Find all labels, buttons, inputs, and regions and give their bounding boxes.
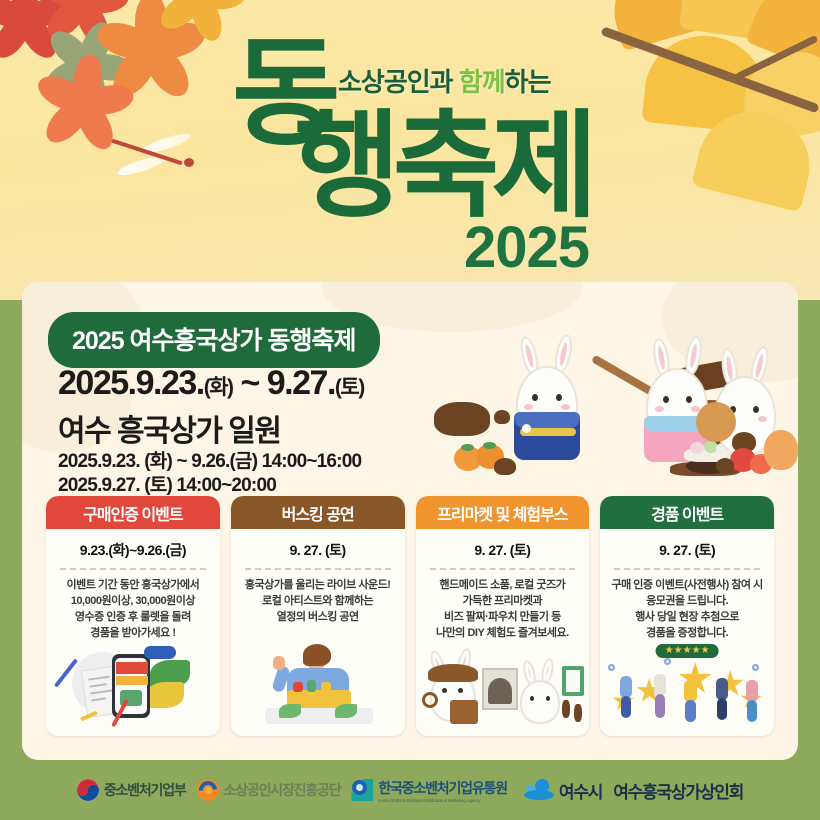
card-date: 9. 27. (토) [231,540,405,560]
leaf-decor-icon [279,704,301,718]
chestnut-icon [716,458,734,473]
card-header: 프리마켓 및 체험부스 [416,496,590,529]
performer-hair-icon [303,644,331,666]
card-divider [430,568,576,570]
event-card[interactable]: 버스킹 공연 9. 27. (토) 흥국상가를 울리는 라이브 사운드! 로컬 … [231,496,405,736]
date-start: 2025.9.23. [58,364,204,402]
chat-bubble-icon [144,646,176,659]
chestnut-pile-icon [434,402,490,436]
dancer-icon [655,694,665,718]
rabbit-illustration [432,362,798,497]
photo-image [488,678,512,704]
yeosu-wave-icon [524,779,554,801]
tagline-highlight: 함께 [459,67,505,97]
logo-kosme: 한국중소벤처기업유통원 Korea SMEs & Startups Distri… [351,778,506,803]
card-description: 이벤트 기간 동안 흥국상가에서 10,000원이상, 30,000원이상 영수… [54,578,212,642]
dancer-icon [621,696,631,718]
chestnut-icon [494,410,510,424]
persimmon-leaf-icon [483,442,496,449]
star-rating-text: ★★★★★ [665,646,710,656]
logo-label: 한국중소벤처기업유통원 [378,778,506,798]
magnifier-icon [422,692,438,708]
card-date: 9. 27. (토) [416,540,590,560]
card-description: 핸드메이드 소품, 로컬 굿즈가 가득한 프리마켓과 비즈 팔찌·파우치 만들기… [424,578,582,642]
busking-performer-illustration [231,642,405,730]
card-divider [614,568,760,570]
dancer-icon [620,676,632,698]
logo-motie: 중소벤처기업부 [77,779,186,801]
card-date: 9. 27. (토) [600,540,774,560]
dragonfly-icon [100,120,210,190]
card-divider [245,568,391,570]
card-divider [60,568,206,570]
dancer-icon [716,678,728,700]
leaf-decor-icon [146,682,184,708]
handmade-goods-illustration [416,654,590,730]
festival-poster: 소상공인과 함께하는 동 행축제 2025 2025 여수흥국상가 동행축제 2… [0,0,820,820]
event-time-line-2: 2025.9.27. (토) 14:00~20:00 [58,470,276,497]
date-end: 9.27. [267,364,335,402]
logo-sublabel: Korea SMEs & Startups Distribution & Mar… [378,798,506,803]
logo-label: 소상공인시장진흥공단 [224,780,341,800]
content-panel: 2025 여수흥국상가 동행축제 2025.9.23.(화) ~ 9.27.(토… [22,282,798,760]
chestnut-icon [562,700,570,718]
dancer-icon [717,698,727,720]
event-card[interactable]: 프리마켓 및 체험부스 9. 27. (토) 핸드메이드 소품, 로컬 굿즈가 … [416,496,590,736]
logo-merchants: 여수흥국상가상인회 [613,778,743,803]
footer-logos: 중소벤처기업부 소상공인시장진흥공단 한국중소벤처기업유통원 Korea SME… [0,760,820,820]
dancer-icon [747,700,757,722]
card-date: 9.23.(화)~9.26.(금) [46,540,220,560]
logo-label: 중소벤처기업부 [104,780,186,800]
title-line-2: 행축제 [294,114,590,218]
bag-icon [450,700,478,724]
tagline: 소상공인과 함께하는 [338,62,551,99]
pear-icon [764,430,798,470]
date-tilde: ~ [233,364,267,402]
phone-receipt-illustration [46,642,220,730]
card-header: 버스킹 공연 [231,496,405,529]
event-cards: 구매인증 이벤트 9.23.(화)~9.26.(금) 이벤트 기간 동안 흥국상… [46,496,774,736]
detective-hat-icon [428,664,478,682]
star-rating-bubble: ★★★★★ [656,644,719,658]
performer-hand-icon [273,656,285,670]
dancer-icon [654,674,666,696]
mooncake-icon [696,402,736,442]
poster-banner: 소상공인과 함께하는 동 행축제 2025 [0,0,820,300]
prize-stars-illustration: ★★★★★ [600,648,774,730]
semas-swirl-icon [197,779,219,801]
card-header: 경품 이벤트 [600,496,774,529]
logo-yeosu: 여수시 [524,778,602,803]
dancer-icon [684,680,697,702]
white-rabbit-icon [520,680,560,724]
event-title-badge: 2025 여수흥국상가 동행축제 [48,312,380,368]
card-description: 흥국상가를 울리는 라이브 사운드! 로컬 아티스트와 함께하는 열정의 버스킹… [239,578,397,626]
logo-label: 여수시 [559,778,602,803]
chestnut-icon [574,704,582,722]
event-time-line-1: 2025.9.23. (화) ~ 9.26.(금) 14:00~16:00 [58,446,361,473]
logo-label: 여수흥국상가상인회 [613,778,743,803]
taegeuk-icon [77,779,99,801]
event-date-line: 2025.9.23.(화) ~ 9.27.(토) [58,364,364,403]
tagline-post: 하는 [505,67,551,97]
phone-icon [112,654,150,718]
event-place: 여수 흥국상가 일원 [58,406,280,450]
dancer-icon [685,700,696,722]
card-description: 구매 인증 이벤트(사전행사) 참여 시 응모권을 드립니다. 행사 당일 현장… [608,578,766,642]
event-card[interactable]: 구매인증 이벤트 9.23.(화)~9.26.(금) 이벤트 기간 동안 흥국상… [46,496,220,736]
event-card[interactable]: 경품 이벤트 9. 27. (토) 구매 인증 이벤트(사전행사) 참여 시 응… [600,496,774,736]
date-start-day: (화) [204,376,233,399]
dancer-icon [746,680,758,702]
maple-leaf-icon [156,0,242,40]
date-end-day: (토) [335,376,364,399]
tagline-pre: 소상공인과 [338,67,459,97]
leaf-decor-icon [335,704,357,718]
logo-text-group: 한국중소벤처기업유통원 Korea SMEs & Startups Distri… [378,778,506,803]
title-block: 소상공인과 함께하는 동 행축제 2025 [232,18,632,280]
title-year: 2025 [464,214,589,281]
chestnut-icon [494,458,516,475]
card-header: 구매인증 이벤트 [46,496,220,529]
persimmon-leaf-icon [461,444,474,451]
logo-semas: 소상공인시장진흥공단 [197,779,341,801]
kosme-icon [351,779,373,801]
